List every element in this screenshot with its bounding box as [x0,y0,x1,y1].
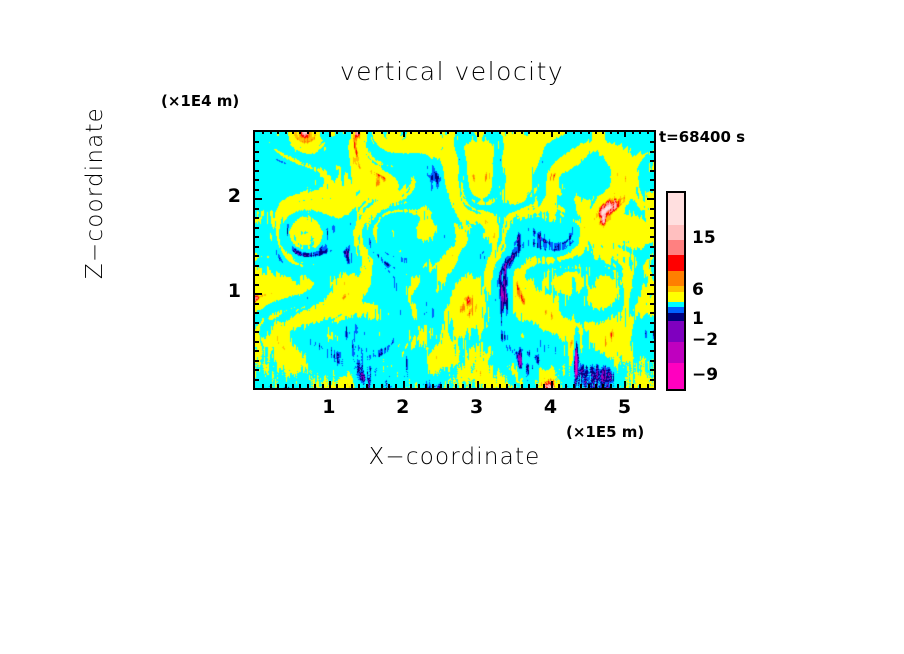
x-top-tick [403,130,405,137]
y-minor-tick [255,303,259,305]
y-right-tick [650,217,654,219]
x-tick-label: 1 [314,396,344,418]
y-right-tick [650,246,654,248]
x-minor-tick [285,384,287,388]
colorbar-tick-label: 15 [692,228,716,248]
x-minor-tick [491,384,493,388]
x-minor-tick [322,384,324,388]
y-right-tick [650,265,654,267]
x-top-tick [595,130,597,134]
y-minor-tick [255,208,259,210]
x-minor-tick [573,384,575,388]
colorbar-band [668,313,684,321]
x-minor-tick [299,384,301,388]
x-top-tick [617,130,619,134]
x-minor-tick [617,384,619,388]
x-minor-tick [602,384,604,388]
x-minor-tick [262,384,264,388]
y-minor-tick [255,312,259,314]
x-top-tick [536,130,538,134]
page-title: vertical velocity [0,57,904,86]
x-top-tick [447,130,449,134]
y-right-tick [650,322,654,324]
x-top-tick [543,130,545,134]
x-top-tick [270,130,272,134]
y-right-tick [650,255,654,257]
colorbar-band [668,342,684,363]
colorbar-band [668,225,684,240]
colorbar-tick-label: 1 [692,309,704,329]
x-top-tick [292,130,294,134]
x-top-tick [610,130,612,134]
x-top-tick [632,130,634,134]
x-minor-tick [610,384,612,388]
x-minor-tick [558,384,560,388]
x-top-tick [395,130,397,134]
y-axis-title: Z−coordinate [82,43,108,343]
y-minor-tick [255,322,259,324]
x-minor-tick [565,384,567,388]
x-minor-tick [292,384,294,388]
colorbar-band [668,240,684,255]
x-top-tick [366,130,368,134]
x-top-tick [351,130,353,134]
x-minor-tick [418,384,420,388]
x-top-tick [455,130,457,134]
x-major-tick [477,381,479,388]
x-minor-tick [336,384,338,388]
vertical-velocity-field [255,132,654,388]
x-minor-tick [358,384,360,388]
x-top-tick [381,130,383,134]
x-minor-tick [373,384,375,388]
x-top-tick [499,130,501,134]
x-minor-tick [580,384,582,388]
y-right-tick [647,198,654,200]
y-minor-tick [255,255,259,257]
y-minor-tick [255,369,259,371]
x-minor-tick [536,384,538,388]
x-minor-tick [440,384,442,388]
x-top-tick [336,130,338,134]
x-minor-tick [270,384,272,388]
x-minor-tick [455,384,457,388]
plot-area [253,130,656,390]
y-minor-tick [255,170,259,172]
x-minor-tick [521,384,523,388]
x-minor-tick [395,384,397,388]
y-minor-tick [255,265,259,267]
x-minor-tick [447,384,449,388]
x-top-tick [624,130,626,137]
x-top-tick [299,130,301,134]
y-minor-tick [255,151,259,153]
x-major-tick [403,381,405,388]
x-top-tick [440,130,442,134]
x-minor-tick [506,384,508,388]
x-major-tick [329,381,331,388]
x-minor-tick [528,384,530,388]
x-top-tick [477,130,479,137]
x-top-tick [521,130,523,134]
x-minor-tick [543,384,545,388]
x-minor-tick [647,384,649,388]
x-major-tick [551,381,553,388]
y-minor-tick [255,236,259,238]
x-minor-tick [351,384,353,388]
y-minor-tick [255,227,259,229]
y-minor-tick [255,274,259,276]
y-right-tick [650,369,654,371]
y-major-tick [255,198,262,200]
y-right-tick [650,379,654,381]
x-top-tick [565,130,567,134]
y-minor-tick [255,360,259,362]
x-top-tick [506,130,508,134]
x-top-tick [410,130,412,134]
y-right-tick [650,350,654,352]
x-top-tick [388,130,390,134]
x-minor-tick [639,384,641,388]
x-minor-tick [366,384,368,388]
y-minor-tick [255,284,259,286]
x-top-tick [262,130,264,134]
x-minor-tick [514,384,516,388]
x-minor-tick [469,384,471,388]
y-right-tick [650,141,654,143]
x-tick-label: 5 [609,396,639,418]
y-tick-label: 2 [211,185,241,207]
x-top-tick [314,130,316,134]
x-minor-tick [595,384,597,388]
x-minor-tick [499,384,501,388]
x-major-tick [624,381,626,388]
x-minor-tick [588,384,590,388]
y-minor-tick [255,189,259,191]
x-minor-tick [410,384,412,388]
x-minor-tick [277,384,279,388]
y-minor-tick [255,160,259,162]
x-top-tick [469,130,471,134]
y-right-tick [650,360,654,362]
y-minor-tick [255,379,259,381]
x-minor-tick [388,384,390,388]
x-top-tick [588,130,590,134]
y-minor-tick [255,350,259,352]
x-top-tick [484,130,486,134]
y-axis-units-label: (×1E4 m) [161,92,239,110]
y-right-tick [650,236,654,238]
colorbar [666,191,686,391]
colorbar-band [668,271,684,286]
x-minor-tick [344,384,346,388]
x-top-tick [573,130,575,134]
x-tick-label: 3 [462,396,492,418]
x-top-tick [602,130,604,134]
x-tick-label: 2 [388,396,418,418]
x-top-tick [462,130,464,134]
y-right-tick [650,303,654,305]
colorbar-band [668,321,684,343]
x-top-tick [329,130,331,137]
x-top-tick [358,130,360,134]
y-right-tick [650,170,654,172]
x-top-tick [639,130,641,134]
colorbar-tick-label: −9 [692,365,718,385]
x-top-tick [432,130,434,134]
y-minor-tick [255,246,259,248]
y-right-tick [647,293,654,295]
y-right-tick [650,274,654,276]
x-top-tick [528,130,530,134]
colorbar-band [668,255,684,272]
x-tick-label: 4 [536,396,566,418]
x-top-tick [647,130,649,134]
x-minor-tick [425,384,427,388]
x-top-tick [418,130,420,134]
x-top-tick [551,130,553,137]
x-top-tick [491,130,493,134]
x-top-tick [580,130,582,134]
y-right-tick [650,179,654,181]
x-axis-units-label: (×1E5 m) [566,423,644,441]
x-top-tick [558,130,560,134]
y-right-tick [650,341,654,343]
x-minor-tick [314,384,316,388]
y-minor-tick [255,179,259,181]
y-right-tick [650,284,654,286]
timestamp-annotation: t=68400 s [659,128,745,146]
x-top-tick [285,130,287,134]
colorbar-tick-label: −2 [692,330,718,350]
y-right-tick [650,151,654,153]
y-major-tick [255,293,262,295]
y-minor-tick [255,331,259,333]
y-right-tick [650,189,654,191]
x-axis-title: X−coordinate [253,444,656,470]
x-minor-tick [484,384,486,388]
x-top-tick [425,130,427,134]
x-top-tick [373,130,375,134]
y-minor-tick [255,217,259,219]
figure-canvas: vertical velocity (×1E4 m) Z−coordinate … [0,0,904,654]
x-top-tick [277,130,279,134]
y-right-tick [650,331,654,333]
x-minor-tick [462,384,464,388]
y-tick-label: 1 [211,280,241,302]
y-minor-tick [255,341,259,343]
colorbar-tick-label: 6 [692,280,704,300]
x-top-tick [307,130,309,134]
x-minor-tick [432,384,434,388]
y-right-tick [650,312,654,314]
colorbar-band [668,363,684,389]
colorbar-band [668,193,684,225]
x-top-tick [344,130,346,134]
x-minor-tick [632,384,634,388]
y-right-tick [650,160,654,162]
y-minor-tick [255,141,259,143]
y-right-tick [650,208,654,210]
x-top-tick [322,130,324,134]
y-right-tick [650,227,654,229]
x-top-tick [514,130,516,134]
x-minor-tick [381,384,383,388]
x-minor-tick [307,384,309,388]
